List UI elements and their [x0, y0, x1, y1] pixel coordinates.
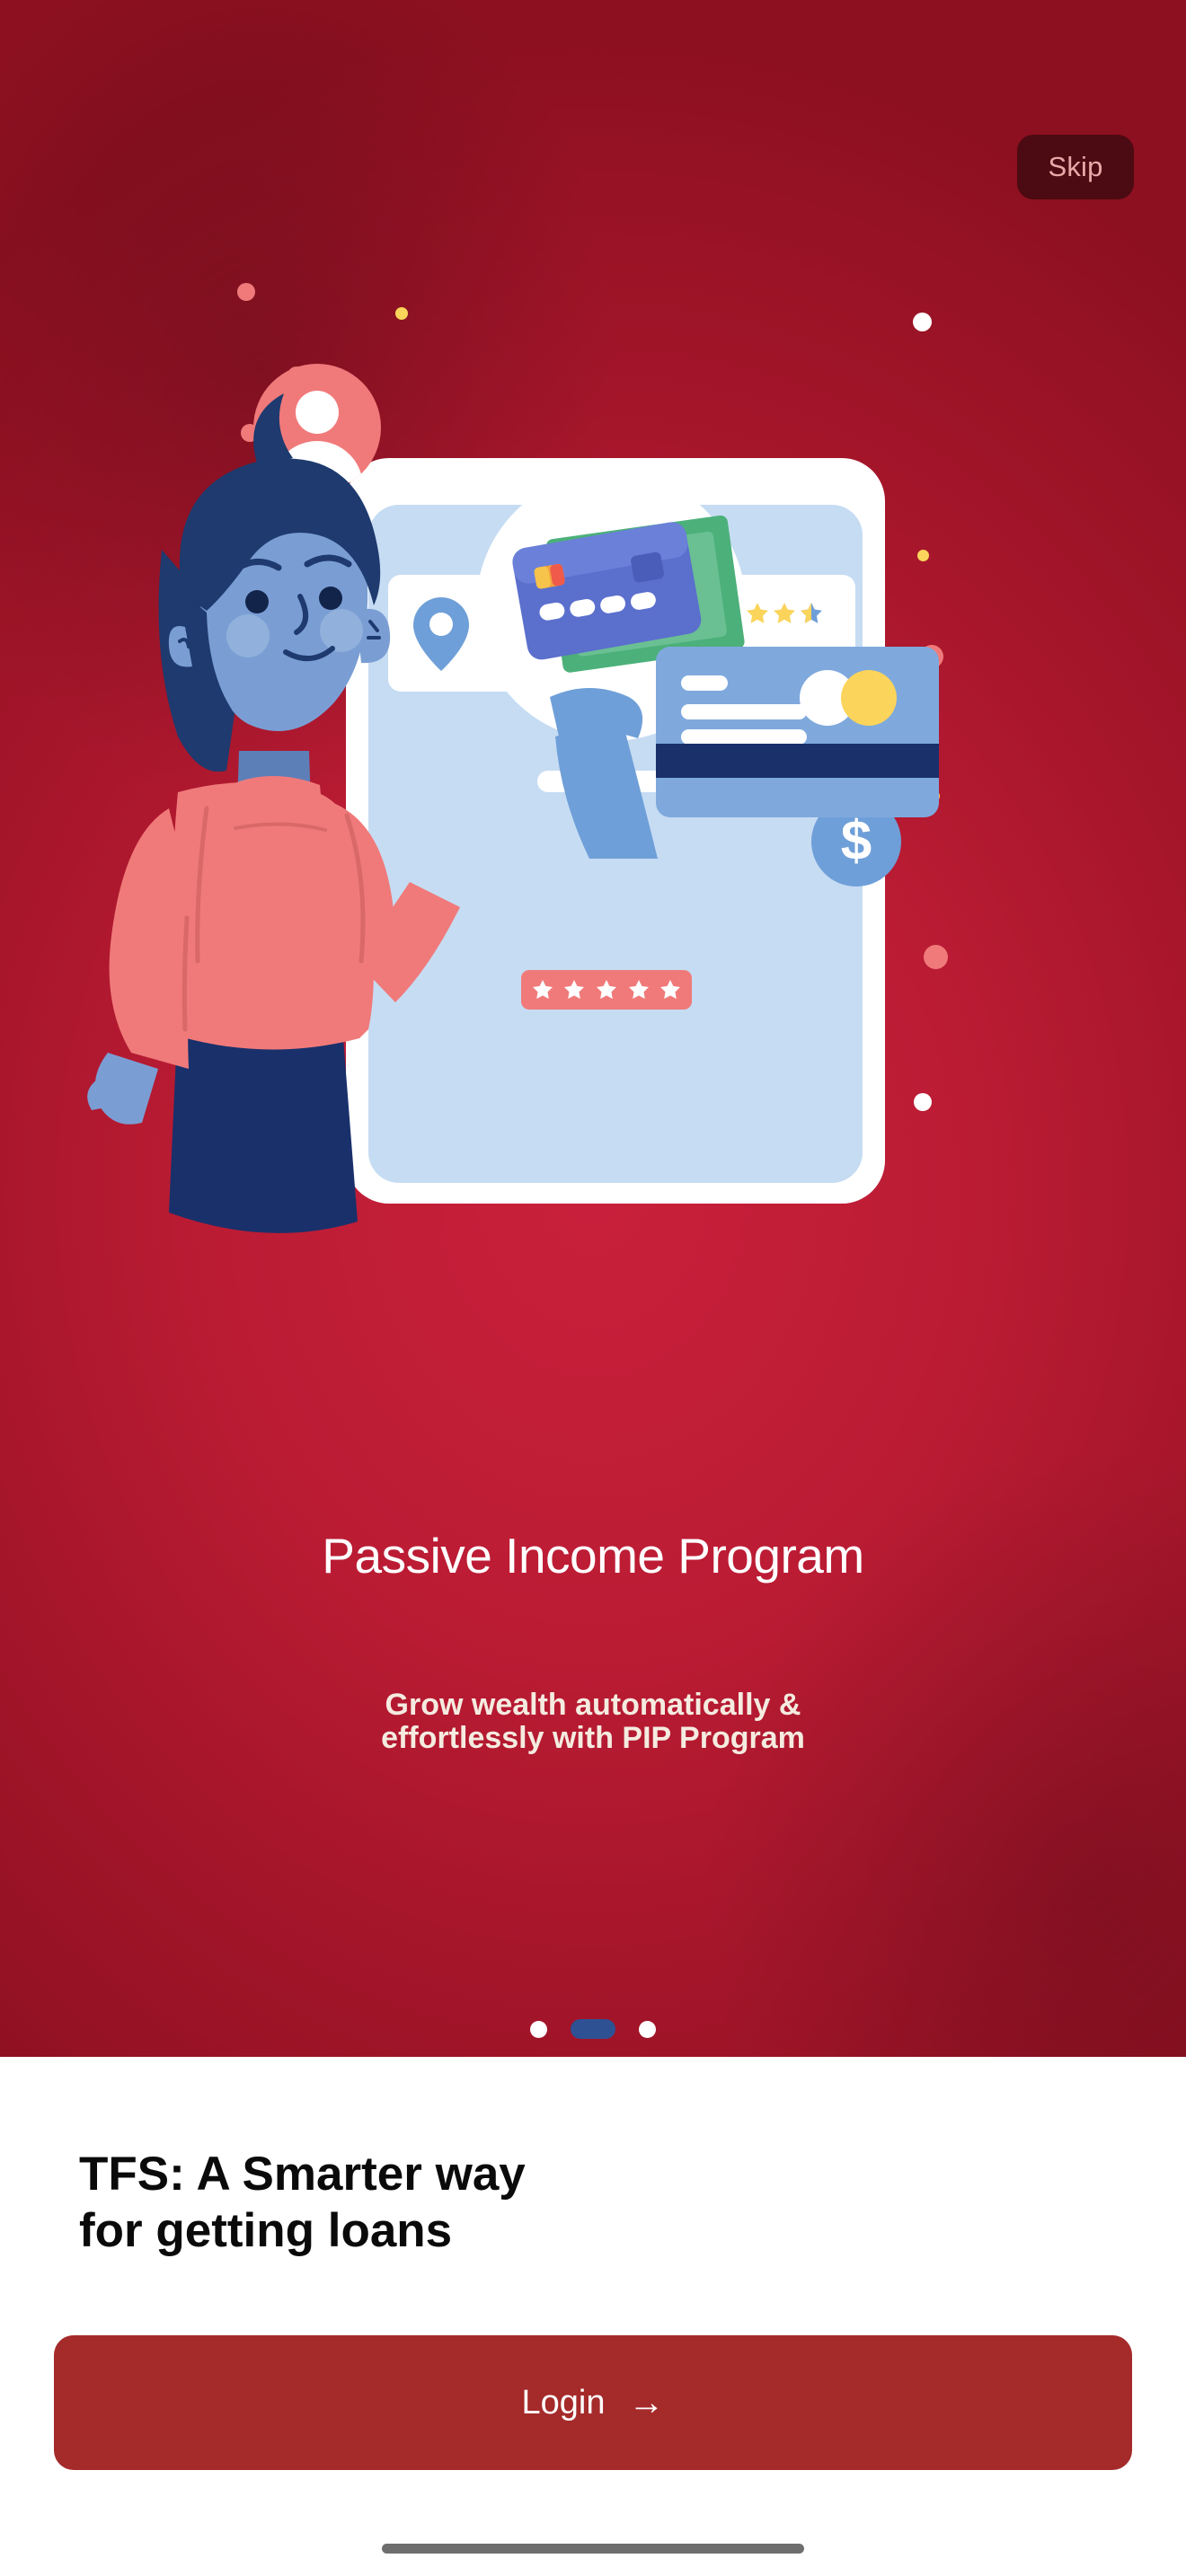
page-title: Passive Income Program: [0, 1527, 1186, 1584]
page-subtitle-line-2: effortlessly with PIP Program: [0, 1722, 1186, 1755]
decor-dot-yellow-right: [917, 550, 929, 561]
login-button[interactable]: Login →: [54, 2335, 1132, 2470]
star-half-icon: [800, 602, 823, 625]
bank-card-line-2: [681, 729, 807, 745]
sheet-headline-line-1: TFS: A Smarter way: [79, 2147, 1067, 2203]
bank-card-logo-circle-yellow: [841, 670, 897, 726]
skip-button[interactable]: Skip: [1017, 135, 1134, 199]
home-indicator: [382, 2544, 804, 2554]
star-icon: [628, 979, 650, 1001]
pagination-dot-3[interactable]: [639, 2021, 656, 2038]
bank-card-icon: [656, 647, 939, 817]
page-subtitle-line-1: Grow wealth automatically &: [0, 1689, 1186, 1722]
pagination-dots[interactable]: [0, 2019, 1186, 2039]
coin-symbol: $: [841, 814, 872, 869]
sheet-headline-line-2: for getting loans: [79, 2203, 1067, 2260]
login-button-label: Login: [522, 2384, 606, 2422]
bottom-sheet: TFS: A Smarter way for getting loans: [0, 2057, 1186, 2576]
decor-dot-yellow-top: [395, 307, 408, 320]
rating-bar: [521, 970, 692, 1010]
page-subtitle: Grow wealth automatically & effortlessly…: [0, 1689, 1186, 1756]
arrow-right-icon: →: [628, 2385, 664, 2421]
star-icon: [532, 979, 553, 1001]
star-icon: [659, 979, 681, 1001]
sheet-headline: TFS: A Smarter way for getting loans: [79, 2147, 1067, 2259]
star-icon: [773, 602, 796, 625]
pagination-dot-1[interactable]: [530, 2021, 547, 2038]
star-icon: [563, 979, 585, 1001]
decor-dot-coral-left3: [237, 283, 255, 301]
decor-dot-coral-right3: [924, 945, 948, 969]
bank-card-line-short: [681, 675, 728, 691]
bank-card-line-1: [681, 704, 807, 719]
bank-card-magstripe: [656, 744, 939, 778]
onboarding-hero: Skip: [0, 0, 1186, 2057]
skip-label: Skip: [1048, 151, 1102, 183]
illustration: $$$ $: [0, 386, 1186, 1518]
decor-dot-white-right: [914, 1093, 932, 1111]
character-illustration: [72, 386, 485, 1338]
star-icon: [596, 979, 617, 1001]
pagination-dot-2-active[interactable]: [571, 2019, 615, 2039]
decor-dot-white-topright: [913, 313, 932, 331]
